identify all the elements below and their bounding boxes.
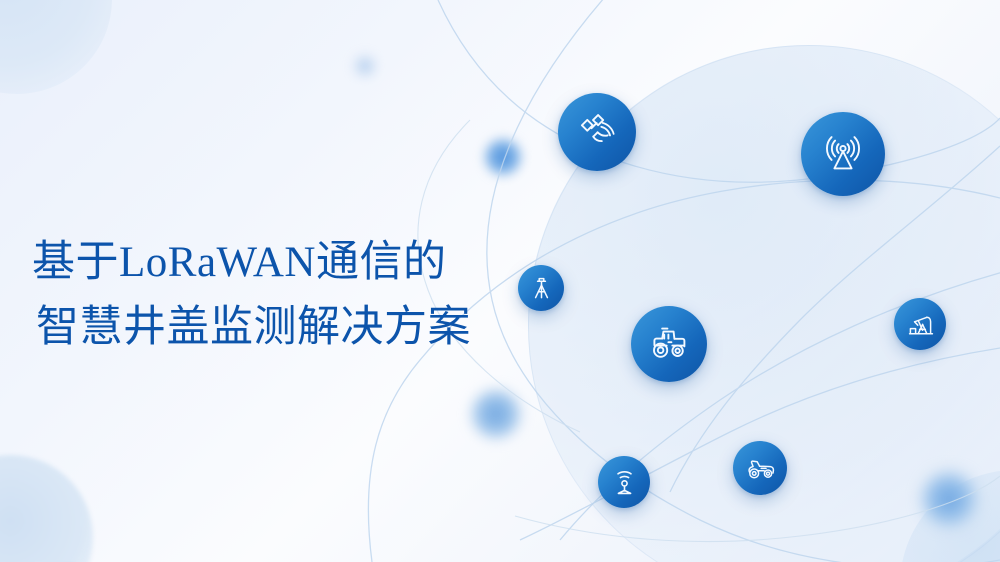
satellite-dish-signal-icon bbox=[575, 110, 619, 154]
oil-pumpjack-icon-node[interactable] bbox=[894, 298, 946, 350]
decor-dot-top bbox=[352, 53, 378, 79]
decor-blob-bottom-left bbox=[0, 455, 93, 562]
harvester-vehicle-icon bbox=[744, 452, 777, 485]
decor-dot-upper-left bbox=[483, 137, 523, 177]
page-title-line-2: 智慧井盖监测解决方案 bbox=[36, 295, 592, 360]
satellite-dish-signal-icon-node[interactable] bbox=[558, 93, 636, 171]
slide-canvas: 基于LoRaWAN通信的 智慧井盖监测解决方案 bbox=[0, 0, 1000, 562]
radio-tower-antenna-icon-node[interactable] bbox=[801, 112, 885, 196]
page-title: 基于LoRaWAN通信的 智慧井盖监测解决方案 bbox=[32, 230, 592, 361]
harvester-vehicle-icon-node[interactable] bbox=[733, 441, 787, 495]
decor-blob-top-left bbox=[0, 0, 112, 94]
page-title-line-1: 基于LoRaWAN通信的 bbox=[32, 230, 592, 295]
wireless-sensor-beacon-icon-node[interactable] bbox=[598, 456, 650, 508]
decor-blob-bottom-right bbox=[900, 470, 1000, 562]
oil-pumpjack-icon bbox=[905, 309, 936, 340]
decor-dot-lower-left bbox=[470, 388, 522, 440]
decor-dot-lower-right bbox=[920, 470, 978, 528]
radio-tower-antenna-icon bbox=[819, 130, 867, 178]
tractor-icon bbox=[646, 321, 692, 367]
wireless-sensor-beacon-icon bbox=[609, 467, 640, 498]
tractor-icon-node[interactable] bbox=[631, 306, 707, 382]
